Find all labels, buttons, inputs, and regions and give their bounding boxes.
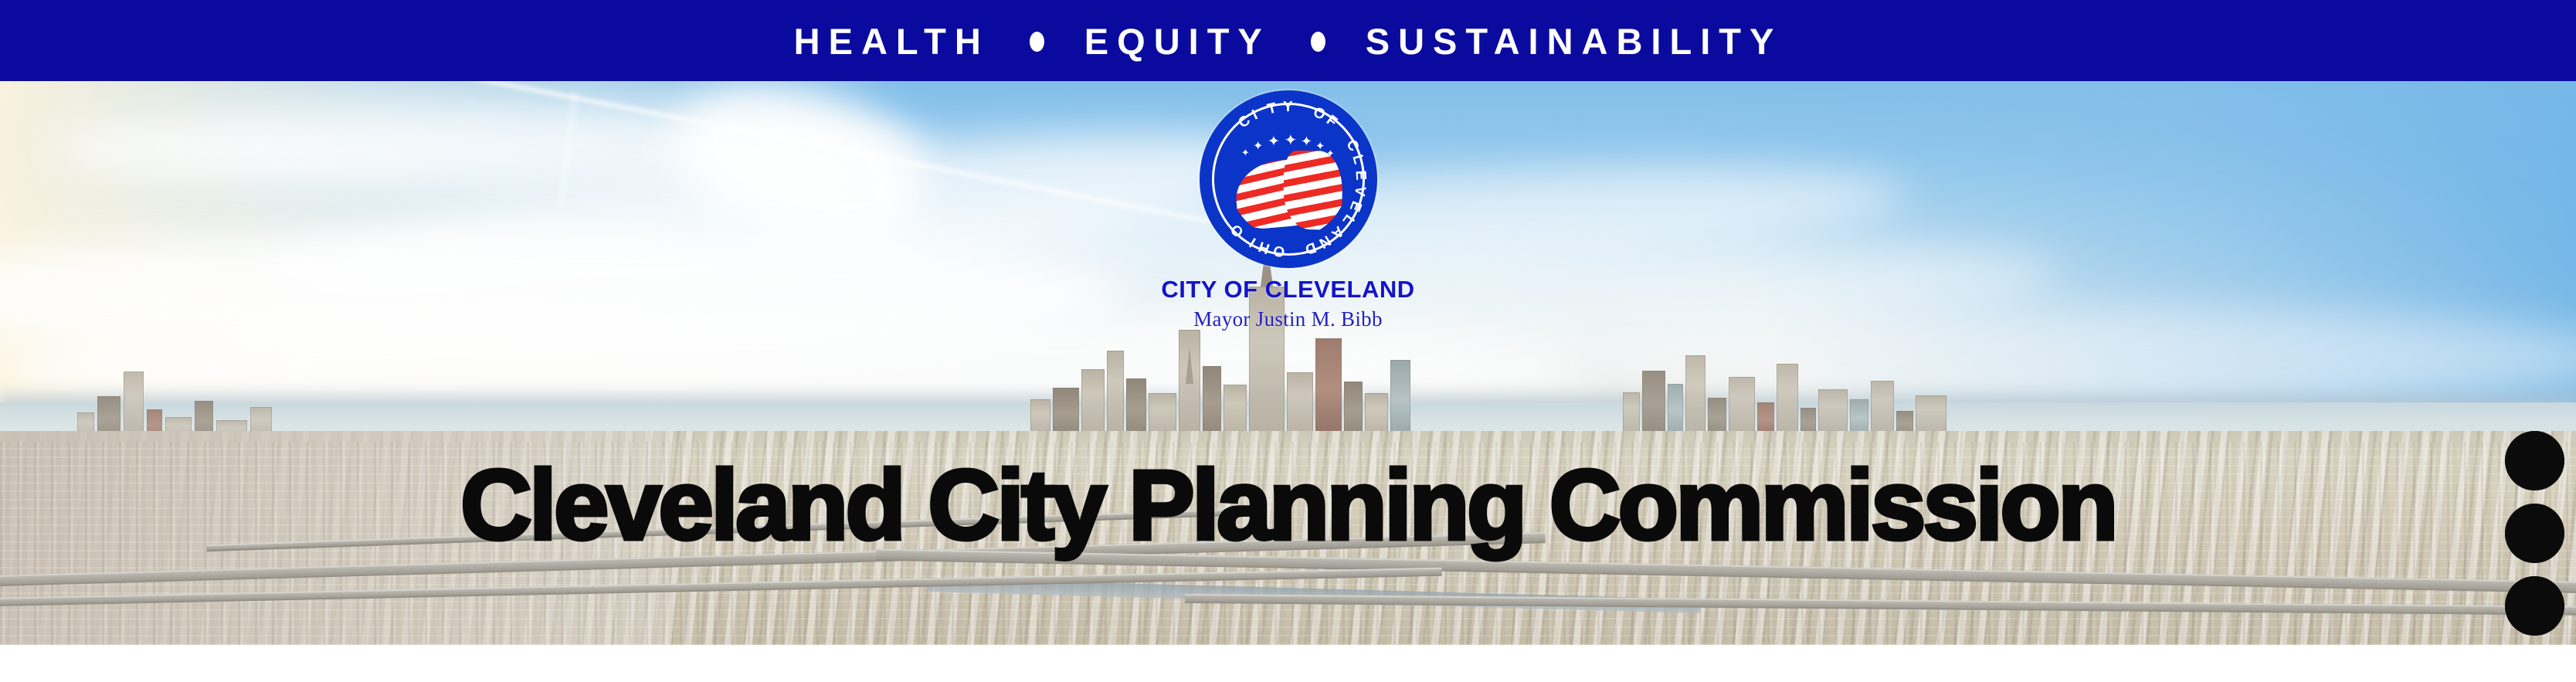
seal-ring-letter: N	[1315, 231, 1333, 251]
tagline-word-sustainability: SUSTAINABILITY	[1366, 23, 1783, 59]
seal-ring-letter: E	[1351, 170, 1369, 181]
tagline-word-equity: EQUITY	[1084, 23, 1271, 59]
seal-ring-letter: O	[1272, 241, 1285, 260]
seal-ring-letter: A	[1327, 222, 1346, 242]
tagline-dot-icon	[1311, 32, 1325, 52]
social-links	[2505, 431, 2564, 636]
seal-ring-letter: E	[1345, 198, 1364, 214]
youtube-icon[interactable]	[2505, 431, 2564, 490]
facebook-icon[interactable]	[2505, 576, 2564, 636]
seal-ring-letter: D	[1302, 238, 1318, 257]
seal-ring-letter: H	[1256, 237, 1271, 256]
skyline-east	[1623, 351, 2344, 436]
seal-ring-letter: I	[1247, 233, 1259, 250]
tagline-dot-icon	[1030, 32, 1044, 52]
mayor-name: Mayor Justin M. Bibb	[1193, 307, 1383, 331]
page-title: Cleveland City Planning Commission	[0, 456, 2576, 555]
instagram-icon[interactable]	[2505, 504, 2564, 563]
seal-ring-letter: L	[1338, 211, 1357, 228]
seal-ring-letter: Y	[1282, 99, 1292, 116]
city-wordmark: CITY OF CLEVELAND	[1161, 276, 1414, 304]
seal-ring-letter: L	[1348, 153, 1366, 166]
city-of-cleveland-seal-icon: ✦ ✦ ✦ ✦ ✦ ✦ ✦ CITYOFCLEVELANDOHIO	[1200, 90, 1377, 268]
seal-ring-letter: C	[1235, 112, 1254, 132]
tagline-words: HEALTH EQUITY SUSTAINABILITY	[794, 23, 1783, 59]
tagline-word-health: HEALTH	[794, 23, 989, 59]
tagline-banner: HEALTH EQUITY SUSTAINABILITY	[0, 0, 2576, 81]
hero-banner-photo: ✦ ✦ ✦ ✦ ✦ ✦ ✦ CITYOFCLEVELANDOHIO CITY O…	[0, 81, 2576, 645]
seal-ring-text: CITYOFCLEVELANDOHIO	[1200, 90, 1377, 268]
seal-ring-letter: T	[1265, 100, 1278, 118]
seal-ring-letter: O	[1227, 220, 1247, 240]
seal-ring-letter: V	[1349, 185, 1368, 197]
seal-ring-letter: C	[1342, 137, 1362, 154]
city-branding-block: ✦ ✦ ✦ ✦ ✦ ✦ ✦ CITYOFCLEVELANDOHIO CITY O…	[0, 90, 2576, 331]
